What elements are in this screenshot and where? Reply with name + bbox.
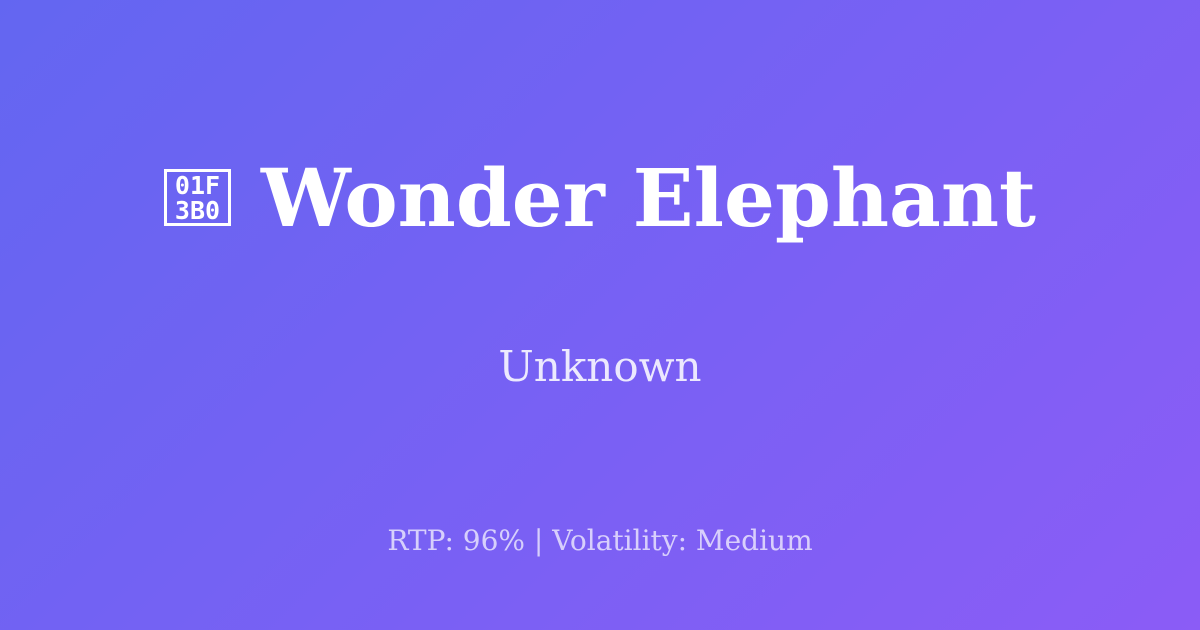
- tofu-hex-top: 01F: [175, 173, 220, 198]
- og-share-card: 01F 3B0 Wonder Elephant Unknown RTP: 96%…: [0, 0, 1200, 630]
- page-title: Wonder Elephant: [261, 158, 1036, 238]
- hero-block: 01F 3B0 Wonder Elephant Unknown: [0, 0, 1200, 492]
- slot-machine-icon: 01F 3B0: [164, 169, 231, 226]
- title-row: 01F 3B0 Wonder Elephant: [164, 104, 1036, 291]
- page-subtitle: Unknown: [498, 346, 701, 388]
- tofu-hex-bottom: 3B0: [175, 198, 220, 223]
- game-meta-line: RTP: 96% | Volatility: Medium: [0, 527, 1200, 555]
